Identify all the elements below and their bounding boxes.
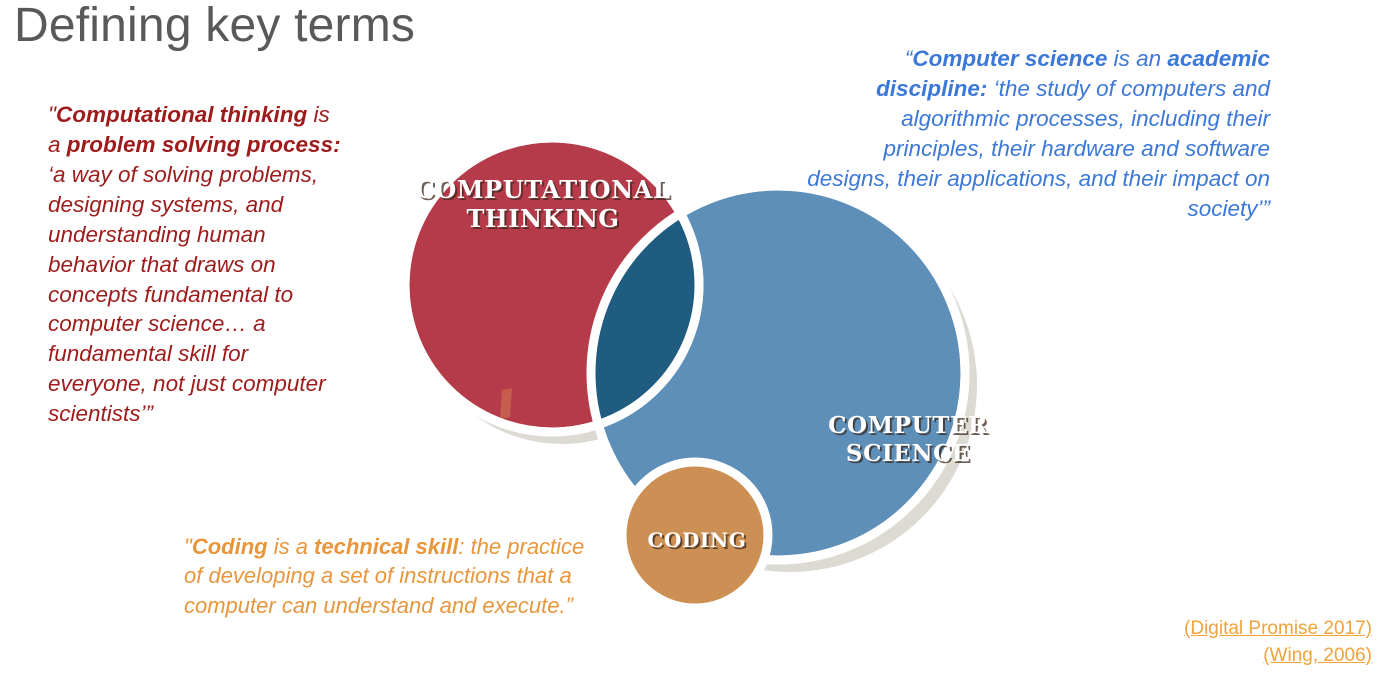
quote-ct-body: ‘a way of solving problems, designing sy… [48,162,326,426]
citation-link-wing[interactable]: (Wing, 2006) [1184,642,1372,670]
quote-cs-mid: is an [1107,46,1167,71]
slide-canvas: Defining key terms [0,0,1384,676]
quote-computational-thinking: "Computational thinking is a problem sol… [48,100,348,429]
quote-ct-bold-category: problem solving process: [67,132,341,157]
citation-link-digital-promise[interactable]: (Digital Promise 2017) [1184,615,1372,643]
quote-coding-open-quote: " [184,534,192,559]
quote-computer-science: “Computer science is an academic discipl… [800,44,1270,224]
quote-ct-open-quote: " [48,102,56,127]
quote-ct-bold-term: Computational thinking [56,102,307,127]
quote-coding: "Coding is a technical skill: the practi… [184,532,604,620]
quote-cs-bold-term: Computer science [912,46,1107,71]
quote-coding-bold-term: Coding [192,534,268,559]
page-title: Defining key terms [14,0,415,53]
quote-coding-mid: is a [268,534,314,559]
quote-coding-bold-category: technical skill [314,534,458,559]
citations-list: (Digital Promise 2017) (Wing, 2006) [1184,615,1372,670]
